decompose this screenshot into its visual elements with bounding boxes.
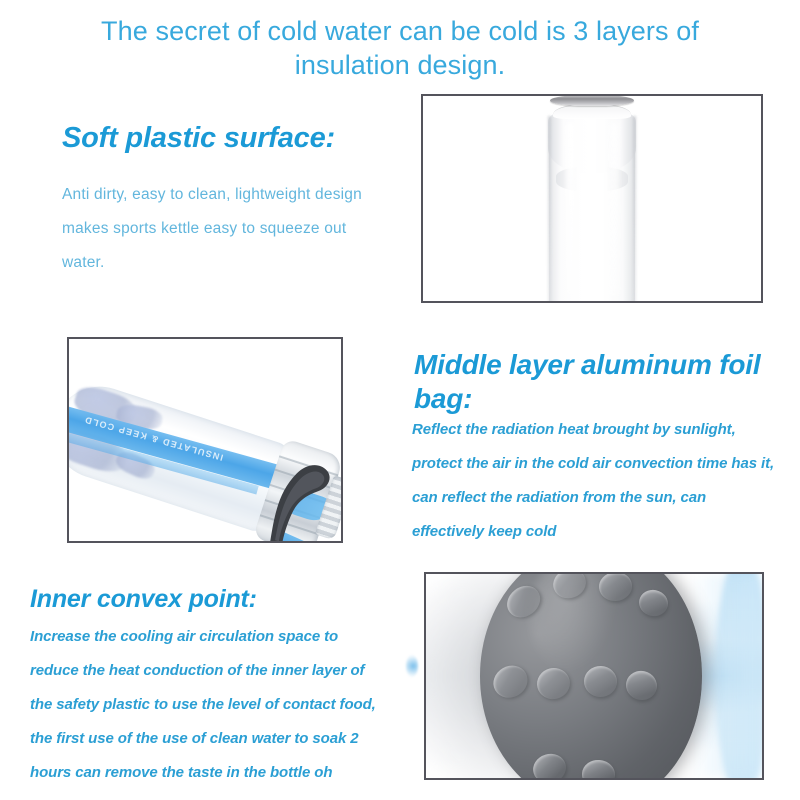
inner-convex-dome-photo [424, 572, 764, 780]
convex-point [598, 572, 634, 602]
upright-translucent-bottle-photo [421, 94, 763, 303]
section-body-middle-layer-aluminum-foil-bag: Reflect the radiation heat brought by su… [412, 413, 782, 549]
convex-point [583, 665, 617, 697]
convex-point [637, 587, 671, 619]
convex-point [623, 667, 660, 702]
inner-convex-dome [480, 572, 702, 780]
tilted-bottle-group: INSULATED & KEEP COLD [67, 369, 343, 543]
bottle-interior-illustration [426, 574, 762, 778]
section-body-soft-plastic-surface: Anti dirty, easy to clean, lightweight d… [62, 178, 392, 280]
bottle-illustration [423, 96, 761, 301]
blue-edge-glare [406, 655, 418, 677]
bottle-left-edge [548, 116, 551, 303]
tilted-bottle-with-strap-photo: INSULATED & KEEP COLD [67, 337, 343, 543]
section-heading-inner-convex-point: Inner convex point: [30, 585, 257, 614]
bottle-highlight-right [610, 122, 619, 296]
bottle-right-edge [633, 116, 636, 303]
bottle-cap-icon [550, 95, 634, 106]
bottle-highlight-left [566, 122, 575, 296]
page-title: The secret of cold water can be cold is … [100, 14, 700, 82]
bottle-neck [553, 104, 631, 119]
bottle-shoulder [548, 112, 636, 174]
convex-point [488, 659, 534, 704]
tilted-bottle-illustration: INSULATED & KEEP COLD [69, 339, 341, 541]
section-heading-middle-layer-aluminum-foil-bag: Middle layer aluminum foil bag: [414, 348, 764, 416]
section-heading-soft-plastic-surface: Soft plastic surface: [62, 122, 335, 155]
convex-point [581, 758, 616, 780]
convex-point [530, 750, 570, 780]
section-body-inner-convex-point: Increase the cooling air circulation spa… [30, 620, 390, 790]
